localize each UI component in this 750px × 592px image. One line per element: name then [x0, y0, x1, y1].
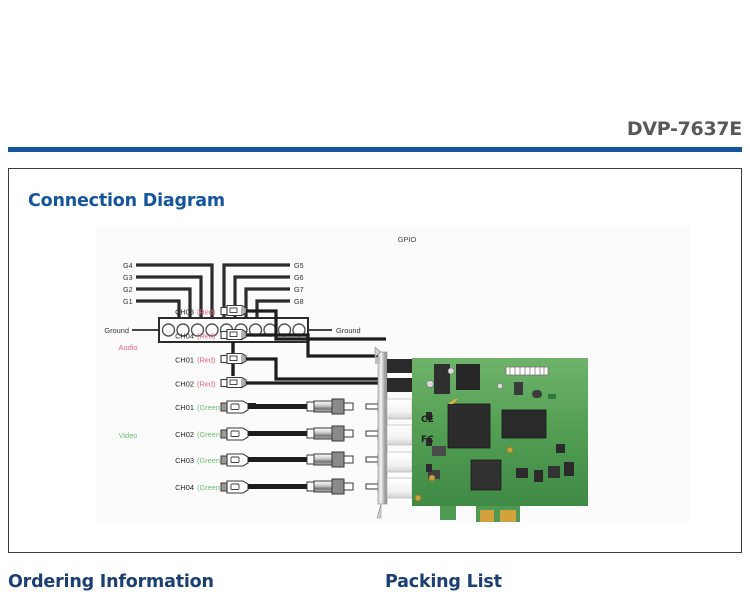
audio-channel-name: CH01	[175, 356, 194, 365]
audio-plug-icon	[221, 354, 246, 364]
video-channel-name: CH04	[175, 483, 194, 492]
connection-diagram-figure: GPIO G4 G3 G2 G1 G5 G6 G7 G8 Ground Grou…	[96, 226, 690, 522]
section-heading-ordering-information: Ordering Information	[8, 572, 214, 592]
audio-plug-icon	[221, 378, 246, 388]
audio-channel-tag: (Red)	[197, 380, 215, 389]
gpio-pin-label-g2: G2	[123, 285, 133, 294]
card-audio-headers	[387, 359, 413, 392]
card-secondary-chip	[502, 410, 546, 438]
gpio-pin-label-g3: G3	[123, 273, 133, 282]
video-channel-name: CH02	[175, 430, 194, 439]
card-silk-ce: CE	[421, 415, 434, 425]
card-small-chip	[471, 460, 501, 490]
card-gold-finger	[480, 510, 494, 522]
gpio-pin-label-g6: G6	[294, 273, 304, 282]
card-gold-finger	[500, 510, 516, 522]
gpio-pin-label-g4: G4	[123, 261, 133, 270]
audio-channel-tag: (Red)	[197, 332, 215, 341]
audio-cable	[246, 359, 386, 379]
gpio-ground-label-right: Ground	[336, 326, 361, 335]
video-channel-tag: (Green)	[197, 456, 222, 465]
header-divider	[8, 147, 742, 152]
section-heading-packing-list: Packing List	[385, 572, 502, 592]
gpio-ground-label-left: Ground	[104, 326, 129, 335]
audio-channel-tag: (Red)	[197, 308, 215, 317]
card-top-connector	[434, 364, 450, 394]
audio-channel-name: CH04	[175, 332, 194, 341]
card-main-chip	[448, 404, 490, 448]
audio-channel-tag: (Red)	[197, 356, 215, 365]
card-pcb-tab	[440, 506, 456, 520]
video-channel-name: CH03	[175, 456, 194, 465]
pcie-capture-card: CE FC	[375, 347, 588, 522]
video-channel-name: CH01	[175, 403, 194, 412]
section-heading-connection-diagram: Connection Diagram	[28, 191, 225, 211]
video-channel-tag: (Green)	[197, 403, 222, 412]
audio-channel-name: CH02	[175, 380, 194, 389]
page-title: DVP-7637E	[627, 118, 742, 140]
video-group-label: Video	[119, 431, 138, 440]
card-top-connector	[456, 364, 480, 390]
gpio-pin-label-g1: G1	[123, 297, 133, 306]
gpio-title: GPIO	[398, 235, 417, 244]
card-bnc-jacks	[387, 399, 412, 498]
card-silk-fc: FC	[421, 435, 434, 445]
video-channel-tag: (Green)	[197, 483, 222, 492]
audio-group-label: Audio	[119, 343, 138, 352]
gpio-pin-label-g7: G7	[294, 285, 304, 294]
card-gpio-header	[506, 367, 548, 375]
gpio-pin-label-g8: G8	[294, 297, 304, 306]
audio-channel-name: CH03	[175, 308, 194, 317]
audio-plug-icon	[221, 306, 246, 316]
audio-plug-icon	[221, 330, 246, 340]
gpio-pin-label-g5: G5	[294, 261, 304, 270]
video-channel-tag: (Green)	[197, 430, 222, 439]
